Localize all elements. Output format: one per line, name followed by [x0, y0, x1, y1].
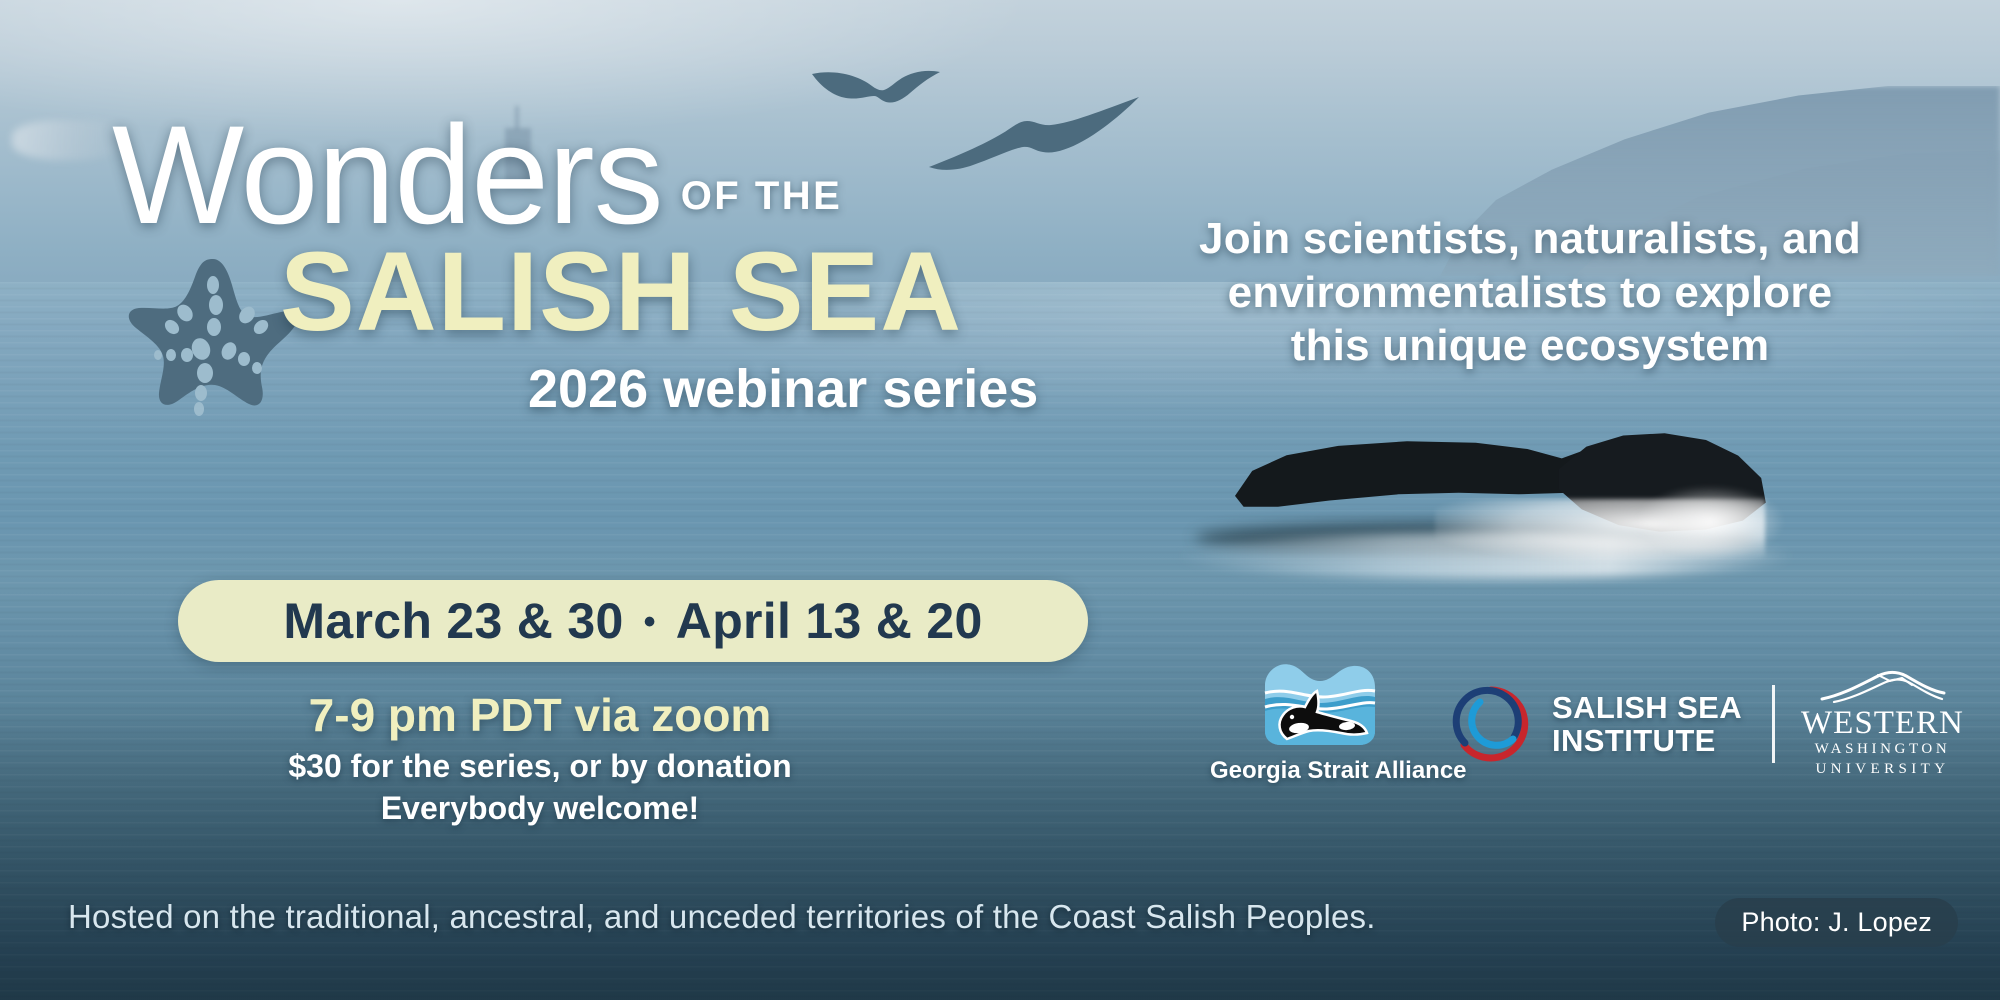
logo-western-washington-university[interactable]: WESTERN WASHINGTON UNIVERSITY	[1801, 669, 1964, 779]
logo-salish-sea-institute-group[interactable]: SALISH SEA INSTITUTE WESTERN WASHINGTON …	[1452, 669, 1964, 779]
ssi-line-1: SALISH SEA	[1552, 691, 1742, 724]
session-time: 7-9 pm PDT via zoom	[180, 688, 900, 742]
title-line-wonders: Wonders	[112, 108, 663, 242]
land-acknowledgement: Hosted on the traditional, ancestral, an…	[68, 898, 1376, 936]
mountain-wave-icon	[1816, 669, 1948, 703]
wwu-line-1: WESTERN	[1801, 707, 1964, 740]
intro-line-3: this unique ecosystem	[1150, 319, 1910, 373]
date-second: April 13 & 20	[676, 593, 983, 649]
title-subtitle: 2026 webinar series	[528, 358, 1122, 420]
title-block: WondersOF THE SALISH SEA 2026 webinar se…	[112, 108, 1122, 420]
concentric-arcs-icon	[1452, 685, 1530, 763]
title-line-salish-sea: SALISH SEA	[280, 236, 1122, 348]
intro-copy: Join scientists, naturalists, and enviro…	[1150, 212, 1910, 373]
date-separator-dot: •	[644, 603, 656, 641]
event-promo-banner: WondersOF THE SALISH SEA 2026 webinar se…	[0, 0, 2000, 1000]
humpback-whale-fluke	[1235, 425, 1755, 585]
title-of-the: OF THE	[681, 174, 843, 219]
wwu-line-3: UNIVERSITY	[1801, 760, 1964, 780]
dates-text: March 23 & 30•April 13 & 20	[283, 592, 982, 650]
logo-divider	[1772, 685, 1775, 763]
wwu-line-2: WASHINGTON	[1801, 740, 1964, 760]
dates-pill: March 23 & 30•April 13 & 20	[178, 580, 1088, 662]
logo-georgia-strait-alliance-label: Georgia Strait Alliance	[1210, 757, 1430, 785]
orca-in-inlet-icon	[1261, 655, 1379, 747]
logo-georgia-strait-alliance[interactable]: Georgia Strait Alliance	[1210, 655, 1430, 785]
photo-credit-badge: Photo: J. Lopez	[1715, 898, 1958, 947]
ssi-line-2: INSTITUTE	[1552, 724, 1742, 757]
logo-salish-sea-institute-label: SALISH SEA INSTITUTE	[1552, 691, 1742, 758]
intro-line-2: environmentalists to explore	[1150, 266, 1910, 320]
welcome-message: Everybody welcome!	[180, 790, 900, 827]
intro-line-1: Join scientists, naturalists, and	[1150, 212, 1910, 266]
date-first: March 23 & 30	[283, 593, 623, 649]
whale-splash-burst	[1635, 485, 1785, 559]
session-price: $30 for the series, or by donation	[180, 748, 900, 785]
